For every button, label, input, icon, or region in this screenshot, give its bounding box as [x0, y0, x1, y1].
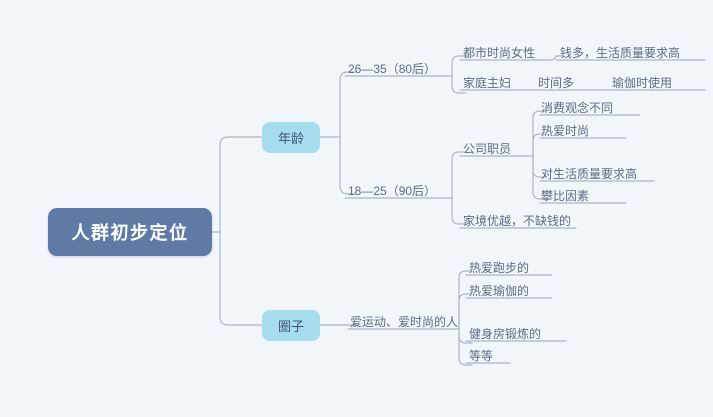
- mindmap-canvas: 人群初步定位 年龄 圈子 26—35（80后） 18—25（90后） 都市时尚女…: [0, 0, 713, 417]
- root-node[interactable]: 人群初步定位: [48, 208, 212, 256]
- node-loves-fashion[interactable]: 热爱时尚: [541, 124, 589, 138]
- node-age-26-35[interactable]: 26—35（80后）: [348, 62, 436, 76]
- node-comparison-factor[interactable]: 攀比因素: [541, 189, 589, 203]
- node-different-consumption-view[interactable]: 消费观念不同: [541, 101, 613, 115]
- branch-node-circle-label: 圈子: [278, 316, 304, 335]
- node-plenty-of-time[interactable]: 时间多: [538, 76, 574, 90]
- root-node-label: 人群初步定位: [72, 219, 189, 245]
- node-sporty-fashionable-people[interactable]: 爱运动、爱时尚的人: [350, 315, 458, 329]
- node-gym-exercisers[interactable]: 健身房锻炼的: [469, 327, 541, 341]
- node-rich-high-quality-life[interactable]: 钱多，生活质量要求高: [560, 46, 680, 60]
- node-wealthy-family[interactable]: 家境优越，不缺钱的: [463, 214, 571, 228]
- node-use-during-yoga[interactable]: 瑜伽时使用: [612, 76, 672, 90]
- node-high-life-quality-demand[interactable]: 对生活质量要求高: [541, 167, 637, 181]
- node-housewife[interactable]: 家庭主妇: [463, 76, 511, 90]
- node-loves-yoga[interactable]: 热爱瑜伽的: [469, 284, 529, 298]
- node-age-18-25[interactable]: 18—25（90后）: [348, 184, 436, 198]
- node-urban-fashion-women[interactable]: 都市时尚女性: [463, 46, 535, 60]
- branch-node-age[interactable]: 年龄: [262, 122, 320, 153]
- branch-node-age-label: 年龄: [278, 128, 304, 147]
- node-loves-running[interactable]: 热爱跑步的: [469, 261, 529, 275]
- node-etcetera[interactable]: 等等: [469, 349, 493, 363]
- node-company-employee[interactable]: 公司职员: [463, 142, 511, 156]
- branch-node-circle[interactable]: 圈子: [262, 310, 320, 341]
